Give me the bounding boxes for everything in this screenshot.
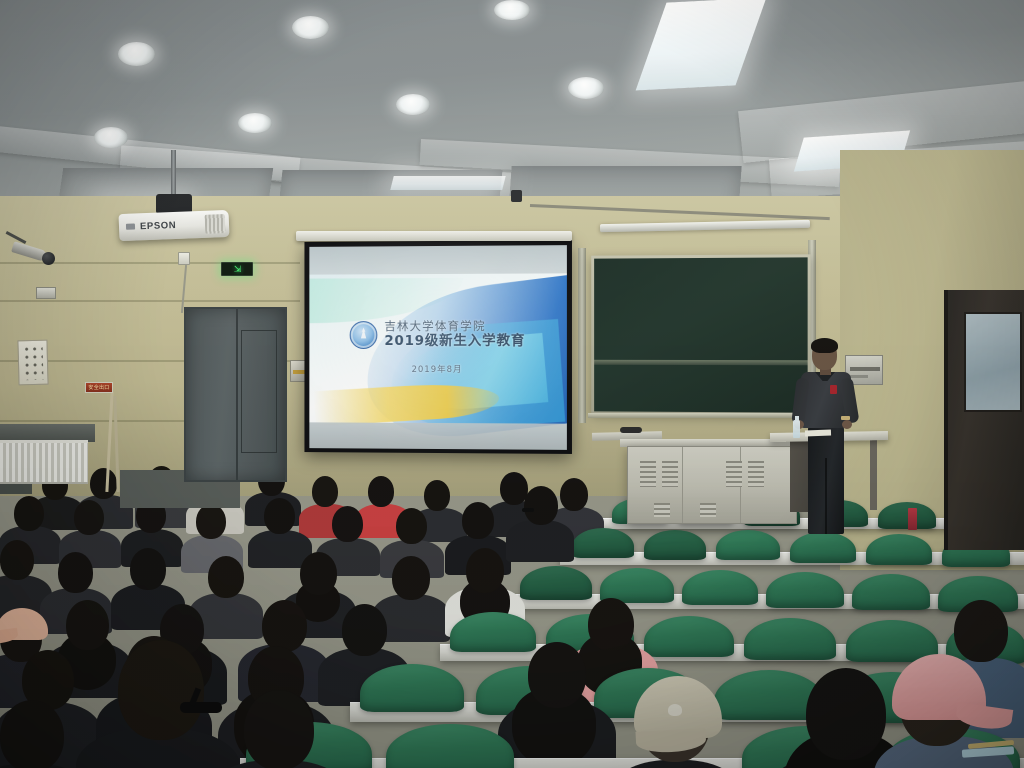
wall-seam [0,300,300,302]
slide-heading-row: 吉林大学体育学院 2019级新生入学教育 [350,320,526,350]
av-equipment-cabinet[interactable] [627,446,797,524]
door-glass-window [964,312,1022,412]
student-head [90,468,117,499]
projector-brand-label: EPSON [140,220,177,232]
student-head [14,496,44,531]
door-panel-inset [241,330,277,453]
right-entry-door[interactable] [944,290,1024,550]
recessed-downlight [494,0,530,20]
university-emblem-icon [350,321,378,349]
lecture-seat[interactable] [360,664,464,712]
student-head [396,508,427,544]
student-head [66,600,109,650]
lecture-seat[interactable] [644,530,706,560]
projection-screen: 吉林大学体育学院 2019级新生入学教育 2019年8月 [304,240,572,454]
poster-content [23,345,44,381]
student-head [262,600,307,652]
recessed-downlight [94,127,128,148]
lecture-seat[interactable] [644,616,734,657]
blackboard-divider [594,359,807,364]
cap-logo-icon [668,704,682,716]
recessed-downlight [292,16,329,39]
student-head [560,478,588,511]
lecture-seat[interactable] [744,618,836,660]
lecture-seat[interactable] [790,532,856,563]
slide-text-block: 吉林大学体育学院 2019级新生入学教育 2019年8月 [309,245,567,450]
projector-indicator-icon [126,223,135,229]
student-head [74,500,104,535]
water-bottle [793,420,800,438]
cabinet-vent [726,461,742,487]
fire-safety-sign-label: 安全出口 [88,384,109,391]
wall-seam [0,420,190,422]
cabinet-vent [662,461,678,487]
student-head [300,552,337,595]
lecture-notes [805,430,831,437]
exit-running-man-icon: ⇲ [234,265,241,274]
presenter-right-hand [842,420,852,429]
ceiling-speaker [511,190,522,202]
projector-vent-grille [205,214,226,234]
slide-titles: 吉林大学体育学院 2019级新生入学教育 [384,320,525,350]
blackboard-slide-rail-left [578,248,586,423]
wall-junction-box [36,287,56,299]
presentation-slide: 吉林大学体育学院 2019级新生入学教育 2019年8月 [309,245,567,450]
lecture-seat[interactable] [866,534,932,565]
recessed-downlight [568,77,604,99]
wall-notice-poster [17,340,48,386]
student-head [118,640,204,740]
lecture-seat[interactable] [520,566,592,600]
ceiling-panel-light [390,176,505,190]
student-head [0,700,64,768]
student-head [264,498,295,534]
student-head [588,598,634,651]
lectern-leg [870,440,877,510]
dome-camera-icon [42,252,55,265]
red-can [908,508,917,530]
student-head [954,600,1008,662]
blackboard [591,254,810,415]
student-head [392,556,430,600]
student-head [342,604,387,656]
recessed-downlight [396,94,430,115]
student-head [58,552,93,593]
cabinet-vent [640,461,656,487]
blackboard-surface [594,257,807,412]
cabinet-vent [748,461,764,487]
left-double-door[interactable] [184,307,287,482]
student-head [466,548,504,593]
cabinet-vent [654,503,670,517]
lecture-seat[interactable] [766,572,844,608]
ceiling-panel-light [636,0,767,91]
cabinet-vent [700,503,716,517]
lecture-seat[interactable] [716,530,780,560]
slide-organization: 吉林大学体育学院 [384,320,525,333]
projector-mount-pole [171,150,176,198]
lecture-seat[interactable] [878,502,936,529]
wall-power-socket[interactable] [178,252,190,265]
student-head [0,540,34,580]
lecture-seat[interactable] [682,570,758,605]
student-head [524,486,558,525]
student-head [462,502,494,539]
student-head [208,556,244,598]
student-head [244,690,314,768]
student-head [130,548,166,590]
lecture-hall-photo: EPSON ⇲ 安全出口 [0,0,1024,768]
recessed-downlight [238,113,272,133]
projection-screen-housing [296,231,572,241]
fire-safety-sign: 安全出口 [85,382,113,393]
lecture-seat[interactable] [386,724,514,768]
projector: EPSON [119,210,230,241]
lecture-seat[interactable] [572,528,634,558]
student-shoulders [506,520,574,562]
student-head [806,668,886,760]
student-head [312,476,338,507]
presenter-badge [830,385,837,394]
presenter-hair [811,338,838,353]
presenter-legs [808,426,844,534]
student-head [368,476,394,507]
slide-date: 2019年8月 [412,363,463,375]
chalk-tray [588,413,812,418]
wall-radiator [0,440,88,484]
remote-control[interactable] [620,427,642,433]
student-head [528,642,586,708]
student-head [424,480,450,511]
eyeglasses-icon [522,508,534,512]
emergency-exit-sign: ⇲ [221,262,253,276]
student-head [196,504,226,539]
recessed-downlight [118,42,155,66]
slide-headline: 2019级新生入学教育 [384,334,525,350]
lecture-seat[interactable] [852,574,930,610]
eyeglasses-icon [180,702,222,713]
student-head [332,506,363,542]
